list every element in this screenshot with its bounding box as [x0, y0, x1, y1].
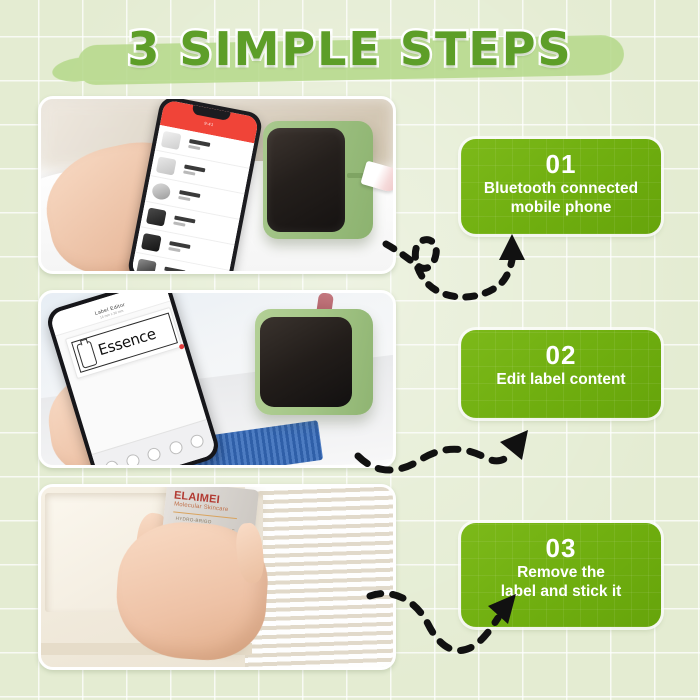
page-title: 3 SIMPLE STEPS [0, 16, 700, 82]
step-number: 02 [469, 340, 653, 370]
product-thumbnail-icon [136, 258, 157, 274]
step-text-line-1: Remove the [469, 563, 653, 582]
printer-front-panel [267, 128, 345, 232]
product-thumbnail-icon [151, 181, 172, 200]
step-callout-2: 02 Edit label content [461, 330, 661, 418]
list-item-meta [178, 190, 200, 202]
step-number: 03 [469, 533, 653, 563]
list-item-meta [163, 267, 185, 274]
arrow-step-2 [352, 412, 532, 496]
resize-handle-icon[interactable] [179, 344, 185, 350]
label-text: Essence [96, 325, 158, 360]
page-title-area: 3 SIMPLE STEPS [0, 16, 700, 88]
list-item-meta [183, 165, 205, 177]
product-thumbnail-icon [161, 130, 182, 149]
label-printer [263, 121, 381, 241]
product-thumbnail-icon [141, 232, 162, 251]
label-printer [255, 309, 387, 427]
toolbar-print-icon[interactable] [189, 433, 205, 449]
step-text-line-2: mobile phone [469, 198, 653, 217]
arrow-step-3 [352, 586, 532, 670]
toolbar-barcode-icon[interactable] [168, 440, 184, 456]
product-thumbnail-icon [146, 207, 167, 226]
step-text-line-1: Edit label content [469, 370, 653, 389]
list-item-meta [188, 139, 210, 151]
toolbar-shape-icon[interactable] [146, 446, 162, 462]
step-text-line-1: Bluetooth connected [469, 179, 653, 198]
infographic-page: 3 SIMPLE STEPS 9:41 [0, 0, 700, 700]
product-thumbnail-icon [156, 156, 177, 175]
toolbar-text-icon[interactable] [104, 459, 120, 468]
step-photo-2: Label Editor 14 mm x 30 mm Essence [38, 290, 396, 468]
step-number: 01 [469, 149, 653, 179]
step-photo-1: 9:41 [38, 96, 396, 274]
printer-front-panel [260, 317, 352, 407]
list-item-meta [173, 216, 195, 228]
toolbar-image-icon[interactable] [125, 453, 141, 468]
list-item-meta [168, 241, 190, 253]
bottle-icon [76, 340, 98, 368]
arrow-step-1 [382, 226, 532, 318]
step-callout-1: 01 Bluetooth connected mobile phone [461, 139, 661, 234]
step-photo-3: ELAIMEI Molecular Skincare HYDRO-BRIGO R… [38, 484, 396, 670]
editor-toolbar[interactable] [92, 419, 217, 468]
